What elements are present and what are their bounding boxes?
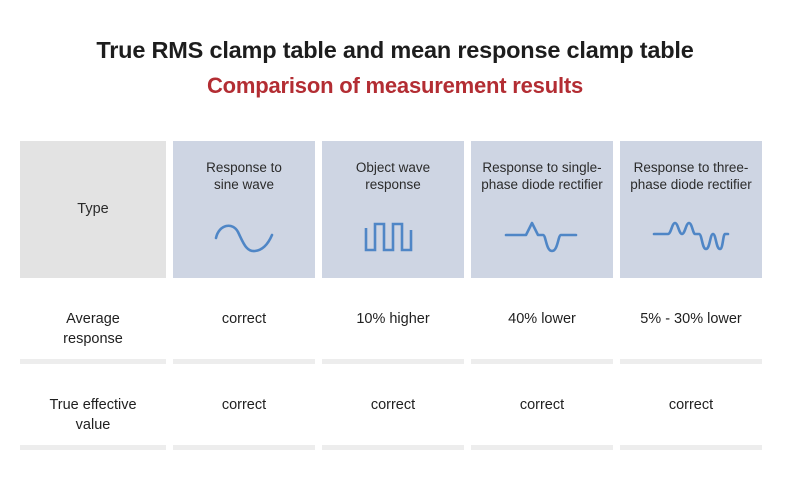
row-label-line-2: value: [49, 416, 136, 436]
table-header-row: Type Response to sine wave Object wave r…: [20, 141, 770, 278]
table-header-cell-type: Type: [20, 141, 166, 278]
table-cell-value: 40% lower: [471, 278, 613, 364]
row-label-line-2: response: [63, 330, 123, 350]
row-label-line-1: Average: [63, 310, 123, 330]
table-header-label-sine-wave: Response to sine wave: [200, 160, 288, 194]
header-label-line-2: phase diode rectifier: [630, 177, 752, 194]
row-separator: [173, 445, 315, 450]
row-separator: [620, 445, 762, 450]
cell-value: correct: [520, 396, 564, 416]
header-label-line-2: phase diode rectifier: [481, 177, 603, 194]
cell-value: correct: [669, 396, 713, 416]
row-label-true-effective-value: True effective value: [49, 396, 136, 435]
page-subtitle: Comparison of measurement results: [0, 72, 790, 100]
row-separator: [322, 445, 464, 450]
three-phase-rectifier-wave-icon: [620, 220, 762, 254]
row-label-average-response: Average response: [63, 310, 123, 349]
cell-value: 40% lower: [508, 310, 576, 330]
table-header-label-type: Type: [71, 200, 114, 218]
header-label-line-2: response: [356, 177, 430, 194]
table-cell-value: correct: [471, 364, 613, 450]
table-cell-value: 5% - 30% lower: [620, 278, 762, 364]
row-label-line-1: True effective: [49, 396, 136, 416]
cell-value: 5% - 30% lower: [640, 310, 742, 330]
page-title: True RMS clamp table and mean response c…: [0, 36, 790, 65]
title-block: True RMS clamp table and mean response c…: [0, 0, 790, 100]
header-label-line-1: Object wave: [356, 160, 430, 177]
table-row: Average response correct 10% higher 40% …: [20, 278, 770, 364]
header-label-line-1: Response to single-: [481, 160, 603, 177]
row-separator: [471, 445, 613, 450]
header-label-line-1: Response to: [206, 160, 282, 177]
table-cell-value: correct: [322, 364, 464, 450]
table-header-label-single-phase-rectifier: Response to single- phase diode rectifie…: [475, 160, 609, 194]
comparison-table: Type Response to sine wave Object wave r…: [20, 141, 770, 450]
single-phase-rectifier-wave-icon: [471, 220, 613, 254]
table-header-label-three-phase-rectifier: Response to three- phase diode rectifier: [624, 160, 758, 194]
table-cell-row-label: Average response: [20, 278, 166, 364]
table-cell-value: 10% higher: [322, 278, 464, 364]
sine-wave-icon: [173, 220, 315, 254]
header-label-line-1: Response to three-: [630, 160, 752, 177]
header-label-line-2: sine wave: [206, 177, 282, 194]
table-header-cell-three-phase-rectifier: Response to three- phase diode rectifier: [620, 141, 762, 278]
cell-value: correct: [371, 396, 415, 416]
square-wave-icon: [322, 220, 464, 254]
cell-value: correct: [222, 310, 266, 330]
table-cell-value: correct: [173, 278, 315, 364]
cell-value: 10% higher: [356, 310, 429, 330]
table-cell-value: correct: [620, 364, 762, 450]
cell-value: correct: [222, 396, 266, 416]
table-cell-value: correct: [173, 364, 315, 450]
table-header-cell-object-wave: Object wave response: [322, 141, 464, 278]
table-cell-row-label: True effective value: [20, 364, 166, 450]
row-separator: [20, 445, 166, 450]
table-row: True effective value correct correct cor…: [20, 364, 770, 450]
table-header-cell-single-phase-rectifier: Response to single- phase diode rectifie…: [471, 141, 613, 278]
table-header-cell-sine-wave: Response to sine wave: [173, 141, 315, 278]
table-header-label-object-wave: Object wave response: [350, 160, 436, 194]
